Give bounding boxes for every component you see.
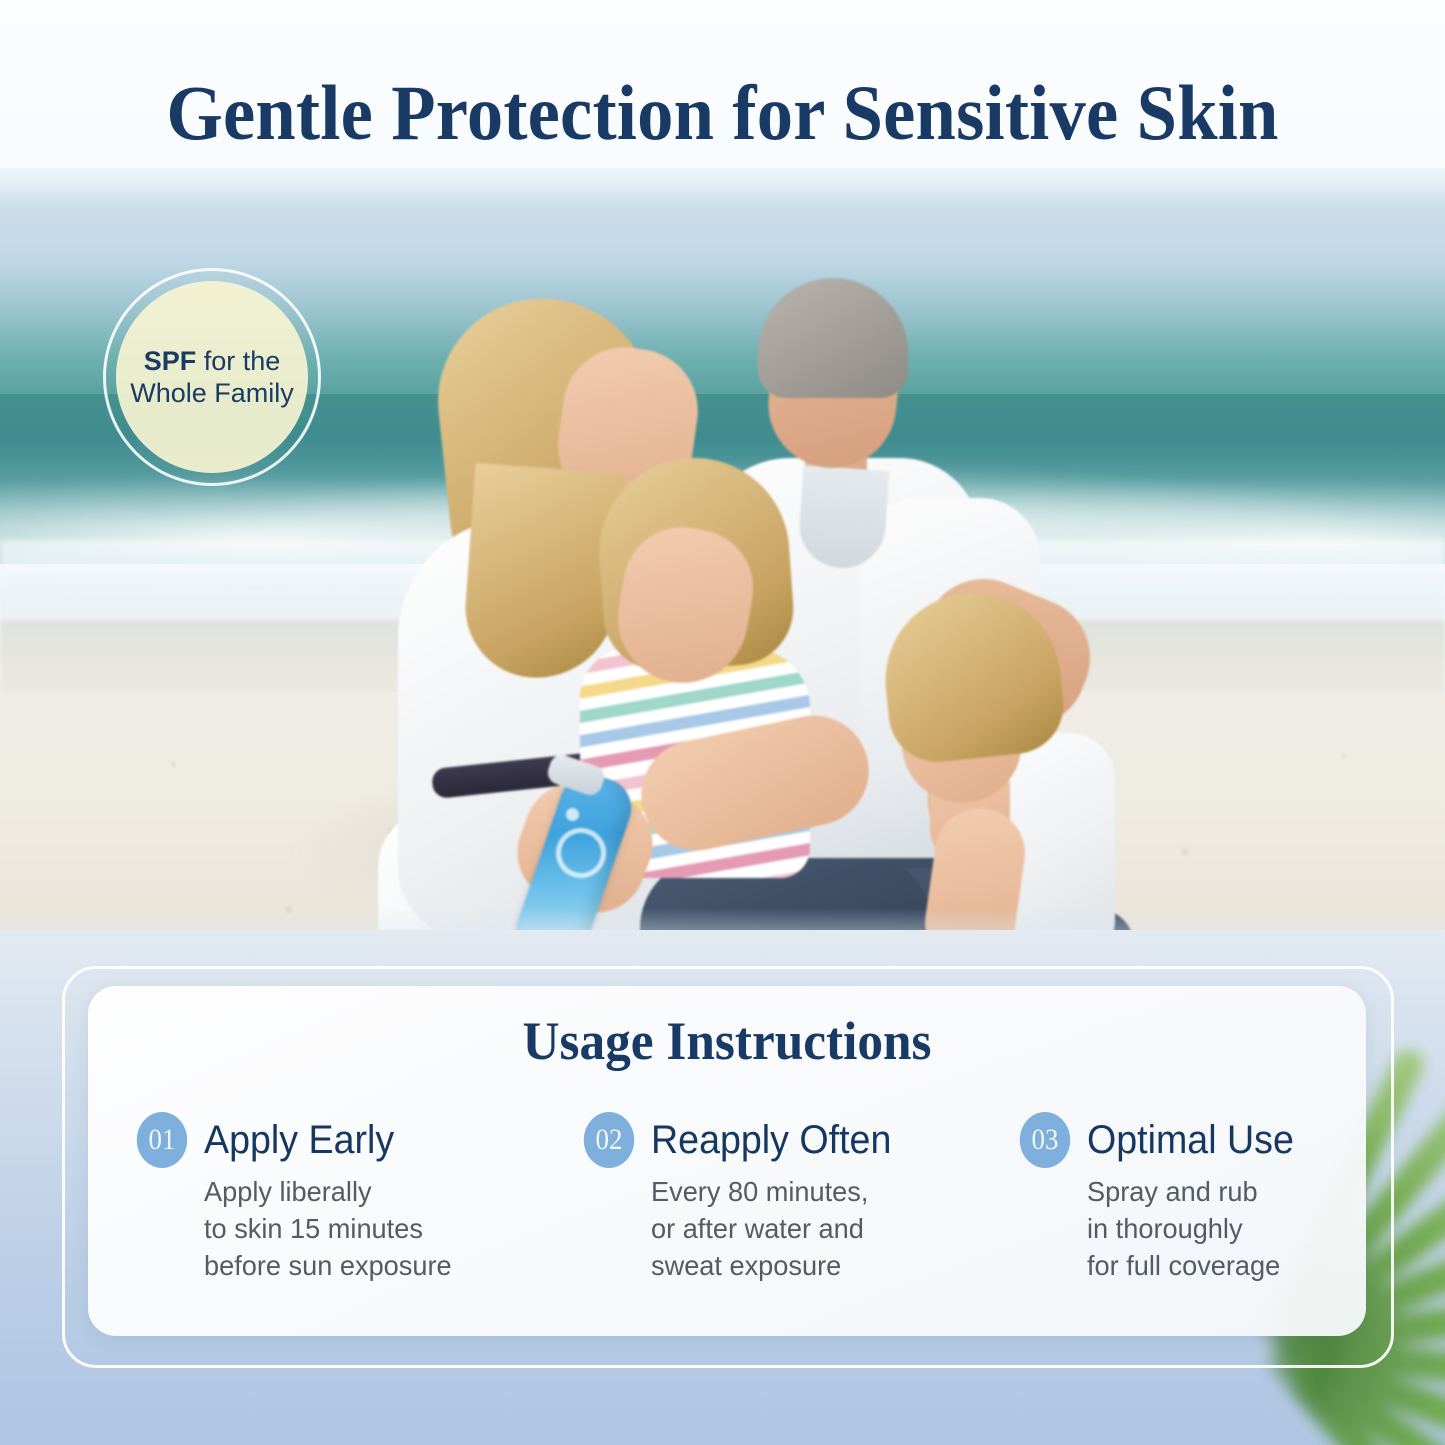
page-title: Gentle Protection for Sensitive Skin (51, 74, 1395, 152)
spf-badge-bold: SPF (144, 346, 197, 376)
step-number-badge-03: 03 (1019, 1112, 1069, 1168)
usage-card: Usage Instructions 01 Apply Early Apply … (88, 986, 1366, 1336)
step-number-badge-02: 02 (584, 1112, 634, 1168)
usage-steps-list: 01 Apply Early Apply liberally to skin 1… (88, 1112, 1366, 1285)
sunscreen-bottle-dot-graphic (566, 808, 579, 821)
spf-badge-fill: SPF for the Whole Family (116, 281, 308, 473)
usage-step-02-body: Every 80 minutes, or after water and swe… (651, 1174, 899, 1285)
poster-canvas: Gentle Protection for Sensitive Skin SPF… (0, 0, 1445, 1445)
usage-step-01-header: 01 Apply Early (134, 1112, 511, 1168)
usage-step-03-title: Optimal Use (1087, 1119, 1294, 1161)
usage-step-03-body: Spray and rub in thoroughly for full cov… (1087, 1174, 1296, 1285)
usage-step-01-title: Apply Early (204, 1119, 394, 1161)
step-number-badge-01: 01 (137, 1112, 187, 1168)
spf-badge: SPF for the Whole Family (103, 268, 321, 486)
usage-step-02: 02 Reapply Often Every 80 minutes, or af… (529, 1112, 924, 1285)
usage-step-01-body: Apply liberally to skin 15 minutes befor… (204, 1174, 502, 1285)
usage-step-02-title: Reapply Often (651, 1119, 891, 1161)
usage-step-03-header: 03 Optimal Use (1017, 1112, 1302, 1168)
spf-badge-text: SPF for the Whole Family (116, 345, 308, 410)
father-hair (758, 278, 908, 398)
usage-step-02-header: 02 Reapply Often (581, 1112, 906, 1168)
usage-card-heading: Usage Instructions (120, 1010, 1334, 1072)
photo-top-fade (0, 168, 1445, 212)
usage-step-01: 01 Apply Early Apply liberally to skin 1… (134, 1112, 529, 1285)
usage-step-03: 03 Optimal Use Spray and rub in thorough… (925, 1112, 1320, 1285)
